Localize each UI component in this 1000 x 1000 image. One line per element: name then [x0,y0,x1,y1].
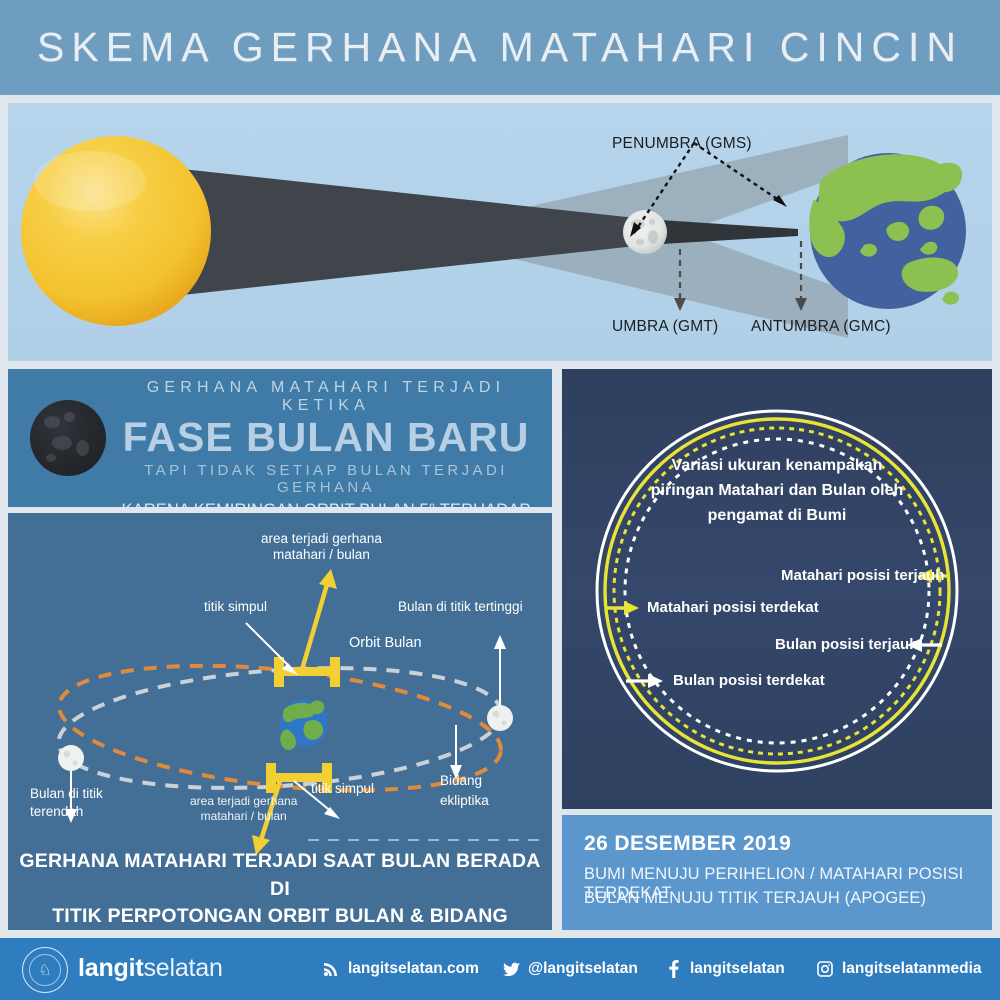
label-ecliptic-plane: Bidang ekliptika [440,771,489,810]
twitter-icon [502,960,520,978]
twitter-label: @langitselatan [528,960,638,978]
link-twitter[interactable]: @langitselatan [502,960,638,978]
facebook-icon [664,960,682,978]
instagram-icon [816,960,834,978]
facebook-label: langitselatan [690,960,785,978]
header-bar: SKEMA GERHANA MATAHARI CINCIN [0,0,1000,95]
label-sun-nearest: Matahari posisi terdekat [647,599,819,616]
brand-wordmark: langitselatan [78,954,223,983]
label-moon-highest: Bulan di titik tertinggi [398,599,523,615]
footer-bar: ♘ langitselatan langitselatan.com @langi… [0,938,1000,1000]
moon-high-point [487,705,513,731]
label-sun-farthest: Matahari posisi terjauh [781,567,944,584]
new-moon-headline: FASE BULAN BARU [106,417,546,459]
seal-inner-emblem: ♘ [29,954,61,986]
rss-icon [322,960,340,978]
eclipse-date: 26 DESEMBER 2019 [584,832,791,856]
node-arrow-top [246,623,291,668]
link-facebook[interactable]: langitselatan [664,960,785,978]
label-moon-lowest: Bulan di titik terendah [30,785,103,821]
label-antumbra: ANTUMBRA (GMC) [751,318,891,336]
infographic-root: SKEMA GERHANA MATAHARI CINCIN [0,0,1000,1000]
orbit-panel-caption: GERHANA MATAHARI TERJADI SAAT BULAN BERA… [8,848,552,930]
new-moon-icon [30,400,106,476]
orbit-panel: area terjadi gerhana matahari / bulan ti… [8,513,552,930]
eclipse-area-arrow-top [301,581,328,673]
new-moon-panel: GERHANA MATAHARI TERJADI KETIKA FASE BUL… [8,369,552,507]
link-instagram[interactable]: langitselatanmedia [816,960,982,978]
label-moon-orbit: Orbit Bulan [349,635,422,653]
langitselatan-seal-logo: ♘ [22,947,68,993]
brand-light: selatan [143,954,222,982]
earth-small-icon [280,699,328,750]
website-label: langitselatan.com [348,960,479,978]
date-panel: 26 DESEMBER 2019 BUMI MENUJU PERIHELION … [562,815,992,930]
label-moon-nearest: Bulan posisi terdekat [673,672,825,689]
new-moon-line3: TAPI TIDAK SETIAP BULAN TERJADI GERHANA [106,462,546,496]
label-eclipse-area-bottom: area terjadi gerhana matahari / bulan [190,794,297,823]
moon-low-point [58,745,84,771]
apparent-size-title: Variasi ukuran kenampakan piringan Matah… [627,454,927,528]
link-website[interactable]: langitselatan.com [322,960,479,978]
label-node-top: titik simpul [204,599,267,615]
instagram-label: langitselatanmedia [842,960,982,978]
label-node-bottom: titik simpul [311,781,374,797]
date-note-2: BULAN MENUJU TITIK TERJAUH (APOGEE) [584,889,926,908]
label-penumbra: PENUMBRA (GMS) [612,135,752,153]
brand-bold: langit [78,954,143,982]
new-moon-line1: GERHANA MATAHARI TERJADI KETIKA [106,379,546,415]
label-moon-farthest: Bulan posisi terjauh [775,636,918,653]
page-title: SKEMA GERHANA MATAHARI CINCIN [37,24,963,71]
label-umbra: UMBRA (GMT) [612,318,718,336]
apparent-size-panel: Variasi ukuran kenampakan piringan Matah… [562,369,992,809]
earth-body [809,153,966,309]
label-eclipse-area-top: area terjadi gerhana matahari / bulan [261,531,382,564]
